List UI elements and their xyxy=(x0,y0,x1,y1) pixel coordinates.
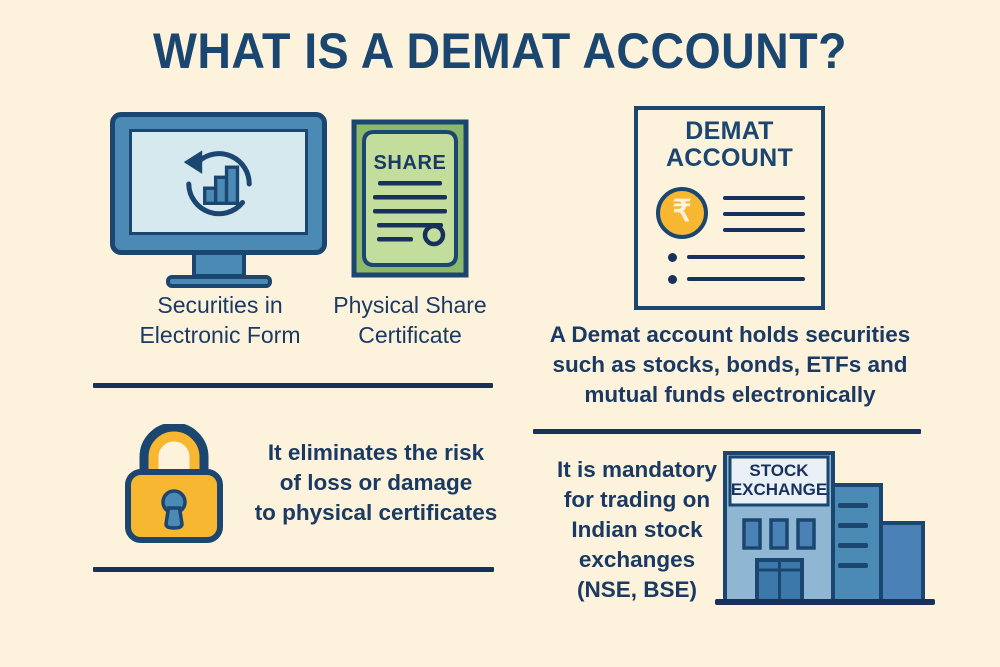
document-line-3 xyxy=(723,228,805,232)
monitor-caption: Securities in Electronic Form xyxy=(110,290,330,351)
monitor-frame xyxy=(110,112,327,255)
security-statement-line1: It eliminates the risk xyxy=(240,438,512,468)
refresh-bar-chart-icon xyxy=(177,142,261,226)
exchange-statement-line3: Indian stock xyxy=(536,515,738,545)
document-line-5 xyxy=(687,277,805,281)
monitor-base xyxy=(166,275,272,288)
certificate-caption: Physical Share Certificate xyxy=(320,290,500,351)
security-statement-line2: of loss or damage xyxy=(240,468,512,498)
divider-left-bottom xyxy=(93,567,494,572)
document-title-line1: DEMAT xyxy=(634,118,825,145)
infographic-canvas: WHAT IS A DEMAT ACCOUNT? Securities in E… xyxy=(0,0,1000,667)
share-certificate-illustration: SHARE xyxy=(351,119,469,278)
document-bullet-2 xyxy=(668,275,677,284)
certificate-caption-line2: Certificate xyxy=(320,320,500,350)
demat-statement-line3: mutual funds electronically xyxy=(528,380,932,410)
stock-exchange-building-illustration: STOCK EXCHANGE xyxy=(712,443,938,611)
exchange-sign-line2: EXCHANGE xyxy=(731,480,827,499)
exchange-statement-line4: exchanges xyxy=(536,545,738,575)
exchange-statement-line1: It is mandatory xyxy=(536,455,738,485)
monitor-illustration xyxy=(110,112,327,255)
document-title: DEMAT ACCOUNT xyxy=(634,118,825,172)
divider-right xyxy=(533,429,921,434)
divider-left-top xyxy=(93,383,493,388)
demat-account-document-illustration: DEMAT ACCOUNT ₹ xyxy=(634,106,825,310)
exchange-statement-line5: (NSE, BSE) xyxy=(536,575,738,605)
document-bullet-1 xyxy=(668,253,677,262)
exchange-statement-line2: for trading on xyxy=(536,485,738,515)
monitor-caption-line2: Electronic Form xyxy=(110,320,330,350)
exchange-statement: It is mandatory for trading on Indian st… xyxy=(536,455,738,605)
page-title: WHAT IS A DEMAT ACCOUNT? xyxy=(35,22,965,80)
security-statement-line3: to physical certificates xyxy=(240,498,512,528)
demat-statement-line1: A Demat account holds securities xyxy=(528,320,932,350)
certificate-heading: SHARE xyxy=(373,152,446,174)
demat-statement-line2: such as stocks, bonds, ETFs and xyxy=(528,350,932,380)
document-line-4 xyxy=(687,255,805,259)
certificate-caption-line1: Physical Share xyxy=(320,290,500,320)
rupee-coin-icon: ₹ xyxy=(656,187,708,239)
monitor-caption-line1: Securities in xyxy=(110,290,330,320)
document-line-1 xyxy=(723,196,805,200)
padlock-icon xyxy=(122,424,226,544)
document-line-2 xyxy=(723,212,805,216)
document-title-line2: ACCOUNT xyxy=(634,145,825,172)
exchange-sign-line1: STOCK xyxy=(749,461,809,480)
demat-definition-statement: A Demat account holds securities such as… xyxy=(528,320,932,410)
security-statement: It eliminates the risk of loss or damage… xyxy=(240,438,512,528)
